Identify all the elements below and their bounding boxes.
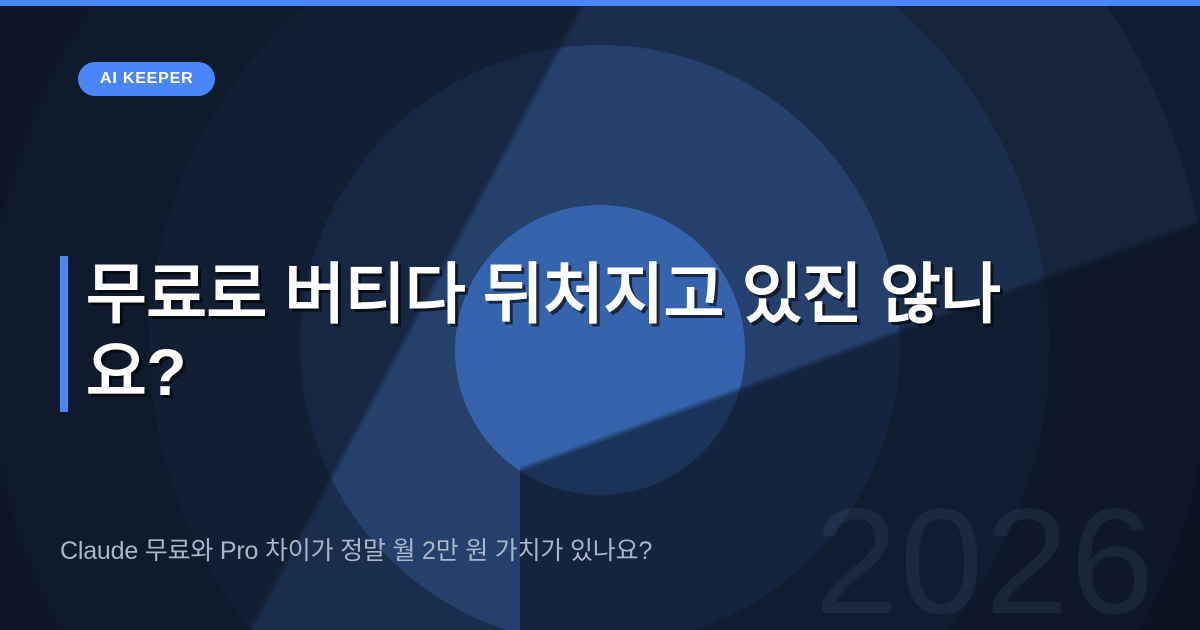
page-subtitle: Claude 무료와 Pro 차이가 정말 월 2만 원 가치가 있나요? <box>60 535 652 568</box>
brand-badge: AI KEEPER <box>78 62 215 96</box>
headline-accent-bar <box>60 256 68 412</box>
hero-banner: 2026 AI KEEPER 무료로 버티다 뒤처지고 있진 않나요? Clau… <box>0 0 1200 630</box>
top-accent-strip <box>0 0 1200 6</box>
page-title: 무료로 버티다 뒤처지고 있진 않나요? <box>86 256 1096 412</box>
brand-badge-label: AI KEEPER <box>100 71 193 87</box>
year-watermark: 2026 <box>814 486 1156 630</box>
headline-block: 무료로 버티다 뒤처지고 있진 않나요? <box>60 256 1096 412</box>
